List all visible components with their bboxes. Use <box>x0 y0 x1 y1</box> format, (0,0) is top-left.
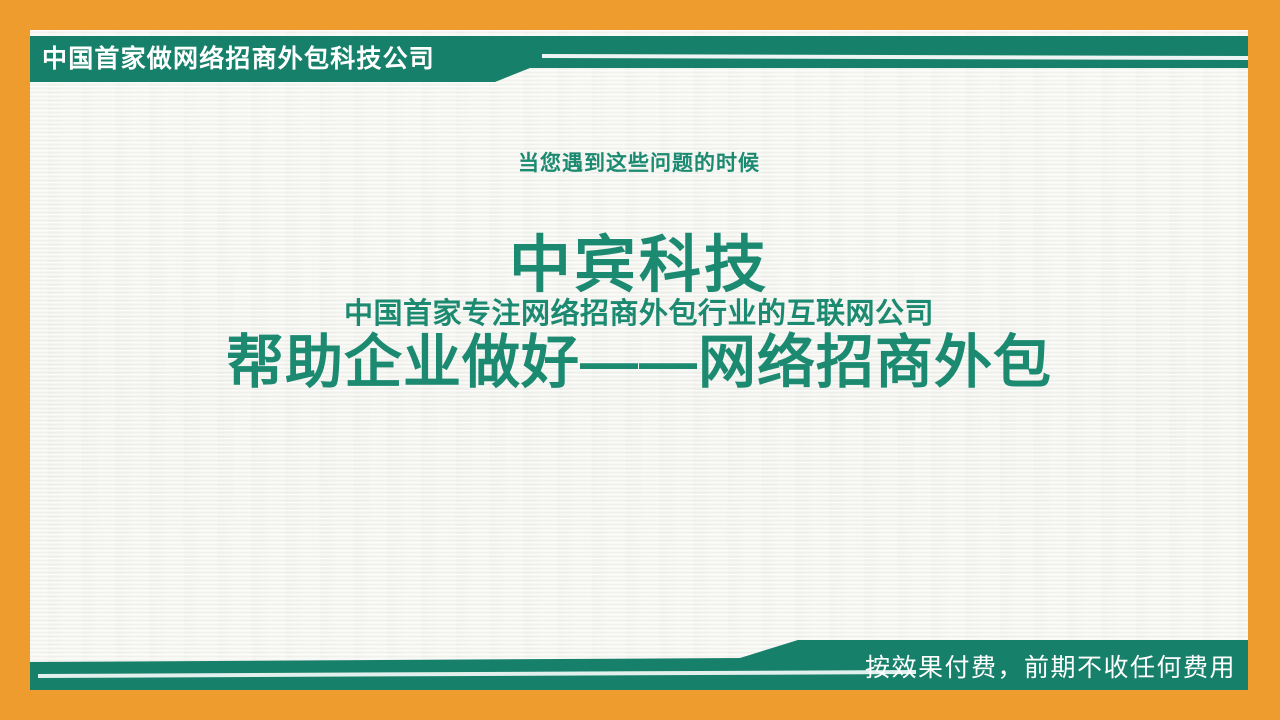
header-title: 中国首家做网络招商外包科技公司 <box>42 44 435 75</box>
tagline-text: 中国首家专注网络招商外包行业的互联网公司 <box>30 296 1248 332</box>
presentation-slide: 中国首家做网络招商外包科技公司 当您遇到这些问题的时候 中宾科技 中国首家专注网… <box>0 0 1280 720</box>
slide-content: 当您遇到这些问题的时候 中宾科技 中国首家专注网络招商外包行业的互联网公司 帮助… <box>30 150 1248 396</box>
footer-title: 按效果付费，前期不收任何费用 <box>865 652 1236 684</box>
eyebrow-text: 当您遇到这些问题的时候 <box>30 150 1248 178</box>
headline-text: 帮助企业做好——网络招商外包 <box>30 330 1248 396</box>
brand-title: 中宾科技 <box>30 230 1248 302</box>
